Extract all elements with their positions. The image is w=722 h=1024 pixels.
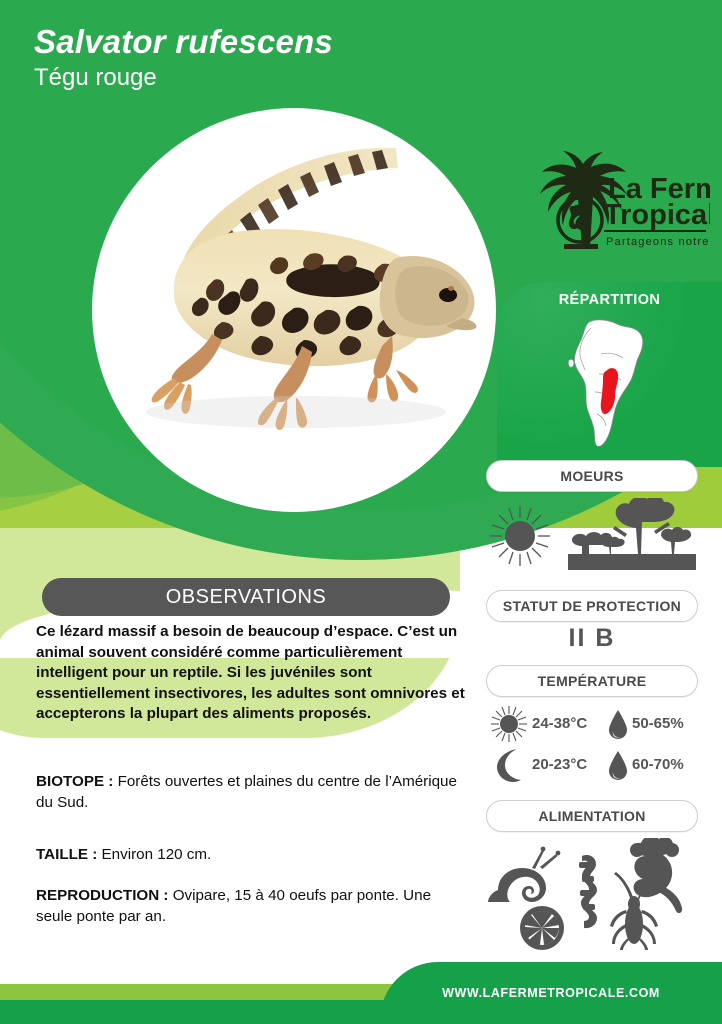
fact-taille-value: Environ 120 cm.	[97, 846, 211, 863]
fact-taille: TAILLE : Environ 120 cm.	[36, 845, 466, 866]
repartition-map	[561, 314, 661, 454]
title-block: Salvator rufescens Tégu rouge	[34, 22, 554, 94]
species-fact-sheet: Salvator rufescens Tégu rouge	[0, 0, 722, 1024]
repartition-title: RÉPARTITION	[497, 292, 722, 308]
water-drop-icon	[604, 703, 632, 744]
red-tegu-lizard-illustration	[96, 112, 492, 508]
fact-reproduction: REPRODUCTION : Ovipare, 15 à 40 oeufs pa…	[36, 886, 466, 927]
fact-biotope: BIOTOPE : Forêts ouvertes et plaines du …	[36, 772, 466, 813]
observations-header: OBSERVATIONS	[42, 578, 450, 616]
temperature-values: 24-38°C 50-65% 20-23°C	[486, 703, 702, 785]
logo-wordmark: La Ferme Tropicale Partageons notre pass…	[604, 173, 710, 248]
page-title-scientific-name: Salvator rufescens	[34, 22, 554, 62]
moeurs-icons	[486, 498, 698, 578]
day-humidity-value: 50-65%	[632, 715, 700, 732]
sun-icon	[486, 703, 532, 744]
sun-icon	[490, 506, 550, 566]
fact-biotope-label: BIOTOPE :	[36, 773, 113, 790]
temperature-header: TEMPÉRATURE	[486, 665, 698, 697]
night-humidity-value: 60-70%	[632, 756, 700, 773]
footer-website[interactable]: WWW.LAFERMETROPICALE.COM	[380, 962, 722, 1024]
lizard-eye	[439, 288, 457, 302]
logo-line2: Tropicale	[604, 199, 710, 231]
brand-logo[interactable]: La Ferme Tropicale Partageons notre pass…	[520, 148, 710, 266]
moon-icon	[486, 744, 532, 785]
footer-website-label: WWW.LAFERMETROPICALE.COM	[442, 986, 660, 1000]
temperature-row-night: 20-23°C 60-70%	[486, 744, 702, 785]
worm-icon	[579, 855, 597, 928]
moeurs-header: MOEURS	[486, 460, 698, 492]
page-title-common-name: Tégu rouge	[34, 62, 554, 94]
night-temperature-value: 20-23°C	[532, 756, 604, 773]
temperature-row-day: 24-38°C 50-65%	[486, 703, 702, 744]
logo-tagline: Partageons notre passion	[606, 236, 710, 248]
alimentation-header: ALIMENTATION	[486, 800, 698, 832]
observations-body: Ce lézard massif a besoin de beaucoup d’…	[36, 622, 466, 725]
statut-header: STATUT DE PROTECTION	[486, 590, 698, 622]
fact-taille-label: TAILLE :	[36, 846, 97, 863]
alimentation-icons	[486, 838, 698, 950]
fact-reproduction-label: REPRODUCTION :	[36, 887, 168, 904]
species-photo	[96, 112, 492, 508]
snail-icon	[488, 847, 560, 902]
statut-value: II B	[486, 624, 698, 653]
lizard-shadow	[146, 396, 446, 428]
water-drop-icon	[604, 744, 632, 785]
fruit-slice-icon	[520, 906, 564, 950]
south-america-map-icon	[561, 314, 661, 454]
repartition-panel: RÉPARTITION	[497, 282, 722, 467]
day-temperature-value: 24-38°C	[532, 715, 604, 732]
savanna-trees-icon	[568, 498, 696, 570]
observations-title: OBSERVATIONS	[166, 586, 326, 609]
